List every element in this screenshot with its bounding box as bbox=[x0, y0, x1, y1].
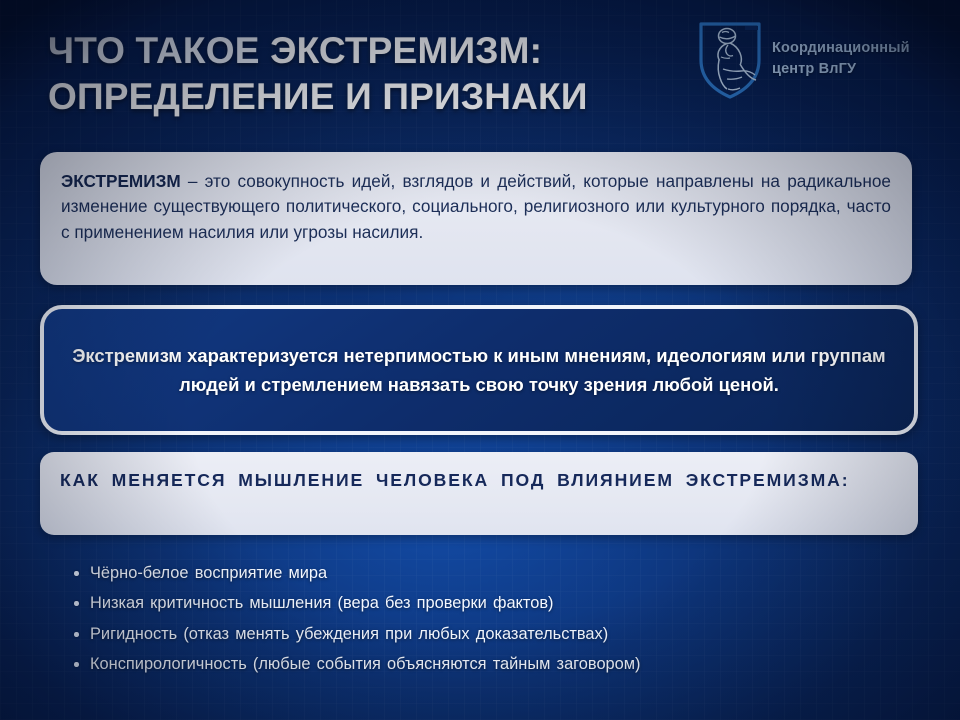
question-card: КАК МЕНЯЕТСЯ МЫШЛЕНИЕ ЧЕЛОВЕКА ПОД ВЛИЯН… bbox=[40, 452, 918, 535]
page-title-line-1-plain: ЧТО ТАКОЕ bbox=[48, 30, 270, 71]
definition-card: ЭКСТРЕМИЗМ – это совокупность идей, взгл… bbox=[40, 152, 912, 285]
page-title-line-1-emphasis: ЭКСТРЕМИЗМ: bbox=[270, 30, 542, 71]
logo-wordmark: Координационный центр ВлГУ bbox=[772, 38, 910, 79]
list-item: Конспирологичность (любые события объясн… bbox=[66, 654, 896, 676]
organization-logo: Координационный центр ВлГУ bbox=[697, 17, 910, 101]
shield-with-seated-figure-icon bbox=[697, 17, 763, 101]
symptom-list: Чёрно-белое восприятие мира Низкая крити… bbox=[66, 563, 896, 685]
slide-canvas: ЧТО ТАКОЕ ЭКСТРЕМИЗМ: ОПРЕДЕЛЕНИЕ И ПРИЗ… bbox=[0, 0, 960, 720]
question-text: КАК МЕНЯЕТСЯ МЫШЛЕНИЕ ЧЕЛОВЕКА ПОД ВЛИЯН… bbox=[60, 467, 898, 493]
page-title-line-1: ЧТО ТАКОЕ ЭКСТРЕМИЗМ: bbox=[48, 28, 708, 74]
list-item: Чёрно-белое восприятие мира bbox=[66, 563, 896, 585]
page-title: ЧТО ТАКОЕ ЭКСТРЕМИЗМ: ОПРЕДЕЛЕНИЕ И ПРИЗ… bbox=[48, 28, 708, 120]
list-item: Ригидность (отказ менять убеждения при л… bbox=[66, 624, 896, 646]
page-title-line-2: ОПРЕДЕЛЕНИЕ И ПРИЗНАКИ bbox=[48, 74, 708, 120]
slide-header: ЧТО ТАКОЕ ЭКСТРЕМИЗМ: ОПРЕДЕЛЕНИЕ И ПРИЗ… bbox=[0, 0, 960, 140]
definition-text: ЭКСТРЕМИЗМ – это совокупность идей, взгл… bbox=[61, 169, 891, 245]
logo-text-line-2: центр ВлГУ bbox=[772, 59, 910, 80]
list-item: Низкая критичность мышления (вера без пр… bbox=[66, 593, 896, 615]
logo-text-line-1: Координационный bbox=[772, 38, 910, 59]
highlight-card: Экстремизм характеризуется нетерпимостью… bbox=[40, 305, 918, 435]
definition-body: – это совокупность идей, взглядов и дейс… bbox=[61, 171, 891, 242]
highlight-text: Экстремизм характеризуется нетерпимостью… bbox=[70, 341, 888, 399]
definition-keyword: ЭКСТРЕМИЗМ bbox=[61, 171, 181, 191]
